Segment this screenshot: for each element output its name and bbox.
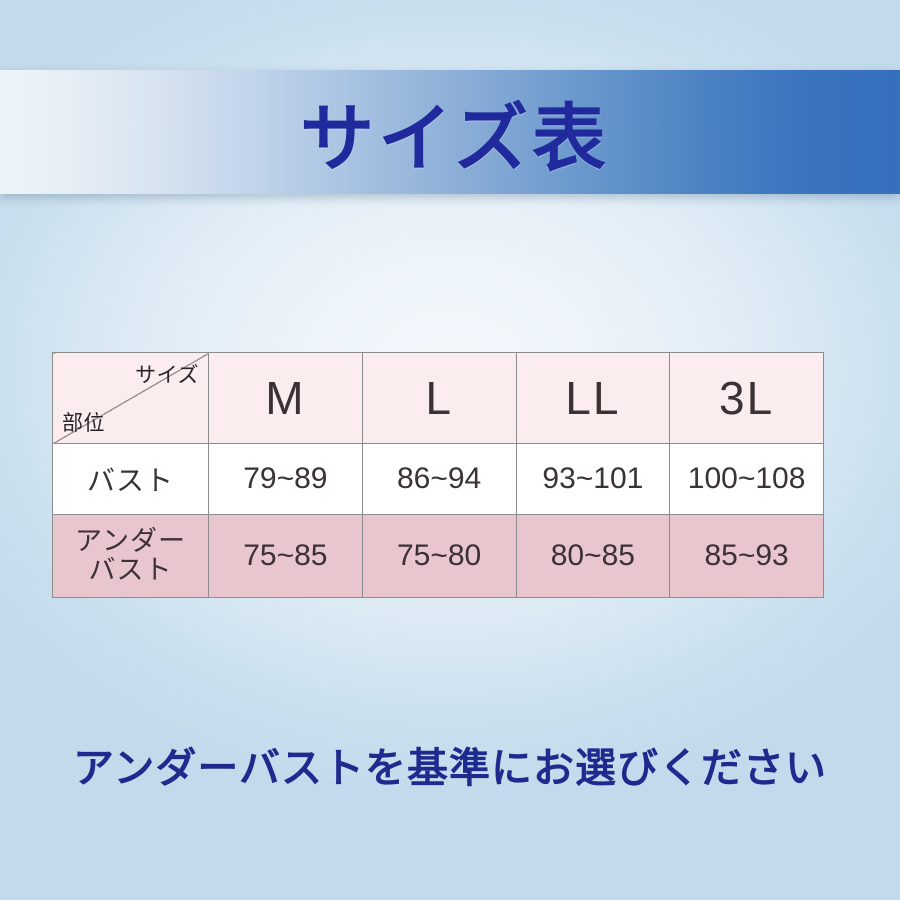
bust-value-m: 79~89: [209, 444, 363, 515]
under-bust-value-ll: 80~85: [516, 515, 670, 598]
size-header-m: M: [209, 353, 363, 444]
under-bust-value-3l: 85~93: [670, 515, 824, 598]
page-background: サイズ表 サイズ 部位 M L LL 3L バスト 79~89: [0, 0, 900, 900]
title-banner: サイズ表: [0, 70, 900, 194]
row-label-under-bust-line2: バスト: [53, 556, 208, 585]
bust-value-ll: 93~101: [516, 444, 670, 515]
row-label-under-bust: アンダー バスト: [53, 515, 209, 598]
corner-header-cell: サイズ 部位: [53, 353, 209, 444]
corner-size-label: サイズ: [135, 359, 199, 389]
table-row-bust: バスト 79~89 86~94 93~101 100~108: [53, 444, 824, 515]
row-label-under-bust-line1: アンダー: [53, 527, 208, 556]
row-label-bust: バスト: [53, 444, 209, 515]
instruction-caption: アンダーバストを基準にお選びください: [0, 728, 900, 800]
size-header-3l: 3L: [670, 353, 824, 444]
size-header-l: L: [362, 353, 516, 444]
size-header-ll: LL: [516, 353, 670, 444]
page-title: サイズ表: [0, 70, 900, 194]
size-chart-table: サイズ 部位 M L LL 3L バスト 79~89 86~94 93~101 …: [52, 352, 824, 598]
under-bust-value-m: 75~85: [209, 515, 363, 598]
bust-value-3l: 100~108: [670, 444, 824, 515]
table-row-under-bust: アンダー バスト 75~85 75~80 80~85 85~93: [53, 515, 824, 598]
corner-part-label: 部位: [62, 407, 105, 437]
under-bust-value-l: 75~80: [362, 515, 516, 598]
table-header-row: サイズ 部位 M L LL 3L: [53, 353, 824, 444]
bust-value-l: 86~94: [362, 444, 516, 515]
